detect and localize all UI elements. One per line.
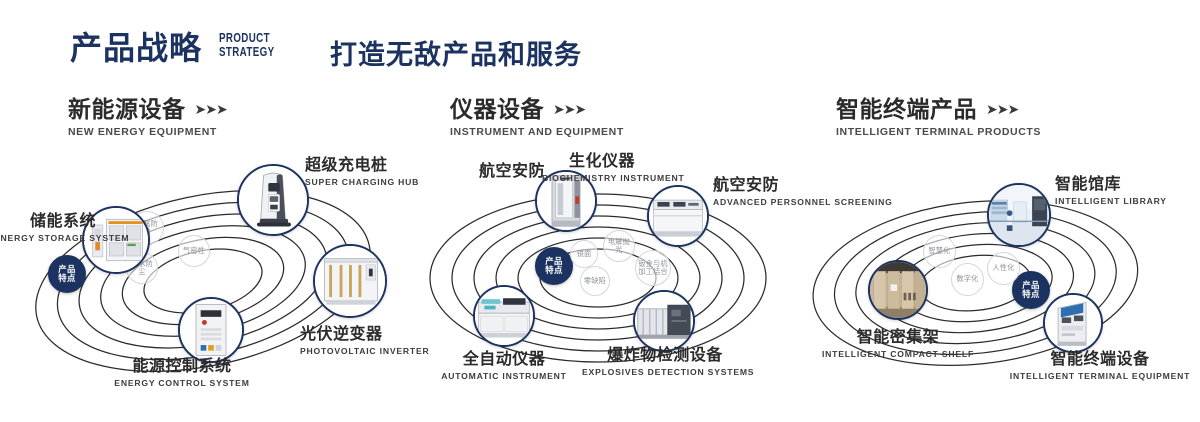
pv-inverter-cabinet-art (315, 246, 385, 316)
node-label-intelligent-library: 智能馆库 INTELLIGENT LIBRARY (1055, 175, 1200, 207)
node-charging-pile[interactable] (237, 164, 309, 236)
charging-pile-art (239, 166, 307, 234)
section-heading-new-energy: 新能源设备➤➤➤ NEW ENERGY EQUIPMENT (68, 96, 227, 138)
compact-shelf-art (870, 262, 926, 318)
node-personnel-screening[interactable] (647, 185, 709, 247)
feature-bubble-digitized: 数字化 (951, 263, 984, 296)
node-label-explosives-detection: 爆炸物检测设备 EXPLOSIVES DETECTION SYSTEMS (582, 346, 748, 378)
chevron-right-icon: ➤➤➤ (195, 96, 227, 122)
feature-bubble-airtight: 气密性 (178, 235, 210, 267)
feature-bubble-zerodefect: 零缺陷 (580, 266, 610, 296)
section-heading-cn: 智能终端产品➤➤➤ (836, 96, 1041, 122)
screening-machine-art (649, 187, 707, 245)
node-label-en: ENERGY STORAGE SYSTEM (0, 233, 96, 244)
section-heading-cn-text: 仪器设备 (450, 96, 544, 122)
node-automatic-instrument[interactable] (473, 285, 535, 347)
section-heading-en: NEW ENERGY EQUIPMENT (68, 126, 227, 138)
diagram-instrument: 产品特点 镜面 电解抛光 钣金与机加工结合 零缺陷 生化仪器 BIOCHEMIS… (400, 150, 800, 422)
section-heading-en: INSTRUMENT AND EQUIPMENT (450, 126, 624, 138)
node-label-cn: 智能终端设备 (1002, 350, 1198, 369)
node-label-control-cabinet: 能源控制系统 ENERGY CONTROL SYSTEM (82, 357, 282, 389)
node-label-en: INTELLIGENT COMPACT SHELF (812, 349, 984, 360)
node-label-en: AUTOMATIC INSTRUMENT (422, 371, 586, 382)
diagram-stage: 产品特点 户外 防腐防锈 气密性 防水防尘 储能系统 ENERGY (0, 150, 1200, 422)
section-heading-intelligent-terminal: 智能终端产品➤➤➤ INTELLIGENT TERMINAL PRODUCTS (836, 96, 1041, 138)
node-label-cn: 智能馆库 (1055, 175, 1200, 194)
diagram-intelligent-terminal: 产品特点 智慧化 人性化 数字化 (790, 150, 1190, 422)
node-label-en: INTELLIGENT LIBRARY (1055, 196, 1200, 207)
page-title: 产品战略 (70, 28, 202, 68)
node-label-aviation-security-overlap: 航空安防 (395, 162, 545, 181)
page-title-english-line2: STRATEGY (219, 46, 274, 60)
feature-bubble-intelligence: 智慧化 (923, 235, 956, 268)
chevron-right-icon: ➤➤➤ (986, 96, 1018, 122)
node-label-cn: 储能系统 (0, 212, 96, 231)
core-bubble-text: 产品特点 (58, 265, 76, 284)
core-bubble-text: 产品特点 (1022, 281, 1040, 300)
node-label-cn: 能源控制系统 (82, 357, 282, 376)
node-label-cn: 全自动仪器 (422, 350, 586, 369)
node-label-en: BIOCHEMISTRY INSTRUMENT (542, 173, 662, 184)
node-intelligent-library[interactable] (987, 183, 1051, 247)
feature-bubble-mirror: 镜面 (570, 240, 598, 268)
node-label-cn: 智能密集架 (812, 328, 984, 347)
core-bubble-instrument: 产品特点 (535, 247, 573, 285)
library-interior-art (989, 185, 1049, 245)
explosive-detector-art (635, 292, 693, 350)
control-cabinet-art (180, 299, 242, 361)
section-heading-cn: 新能源设备➤➤➤ (68, 96, 227, 122)
node-label-en: ENERGY CONTROL SYSTEM (82, 378, 282, 389)
section-heading-instrument: 仪器设备➤➤➤ INSTRUMENT AND EQUIPMENT (450, 96, 624, 138)
core-bubble-text: 产品特点 (545, 257, 563, 276)
node-label-biochemistry-instrument: 生化仪器 BIOCHEMISTRY INSTRUMENT (542, 152, 662, 184)
chevron-right-icon: ➤➤➤ (553, 96, 585, 122)
node-label-cn-extra: 航空安防 (395, 162, 545, 181)
feature-bubble-sheetmetal: 钣金与机加工结合 (635, 250, 671, 286)
node-label-en: EXPLOSIVES DETECTION SYSTEMS (582, 367, 748, 378)
section-heading-cn-text: 新能源设备 (68, 96, 186, 122)
page-slogan: 打造无敌产品和服务 (330, 33, 582, 72)
self-service-kiosk-art (1045, 295, 1101, 351)
node-intelligent-terminal-equipment[interactable] (1043, 293, 1103, 353)
section-heading-cn-text: 智能终端产品 (836, 96, 977, 122)
node-control-cabinet[interactable] (178, 297, 244, 363)
node-label-compact-shelf: 智能密集架 INTELLIGENT COMPACT SHELF (812, 328, 984, 360)
node-label-en: INTELLIGENT TERMINAL EQUIPMENT (1002, 371, 1198, 382)
section-heading-cn: 仪器设备➤➤➤ (450, 96, 624, 122)
feature-bubble-electropolish: 电解抛光 (603, 230, 635, 262)
node-label-cn: 爆炸物检测设备 (582, 346, 748, 365)
node-label-cn: 生化仪器 (542, 152, 662, 171)
page-title-english: PRODUCT STRATEGY (219, 32, 274, 59)
page-header: 产品战略 PRODUCT STRATEGY 打造无敌产品和服务 (0, 0, 1200, 92)
node-label-automatic-instrument: 全自动仪器 AUTOMATIC INSTRUMENT (422, 350, 586, 382)
feature-bubble-humanized: 人性化 (987, 252, 1020, 285)
section-heading-en: INTELLIGENT TERMINAL PRODUCTS (836, 126, 1041, 138)
automatic-analyzer-art (475, 287, 533, 345)
node-label-intelligent-terminal-equipment: 智能终端设备 INTELLIGENT TERMINAL EQUIPMENT (1002, 350, 1198, 382)
node-label-energy-storage: 储能系统 ENERGY STORAGE SYSTEM (0, 212, 96, 244)
core-bubble-new-energy: 产品特点 (48, 255, 86, 293)
node-pv-inverter[interactable] (313, 244, 387, 318)
diagram-new-energy: 产品特点 户外 防腐防锈 气密性 防水防尘 储能系统 ENERGY (0, 150, 400, 422)
node-compact-shelf[interactable] (868, 260, 928, 320)
node-explosives-detection[interactable] (633, 290, 695, 352)
page-title-english-line1: PRODUCT (219, 32, 274, 46)
